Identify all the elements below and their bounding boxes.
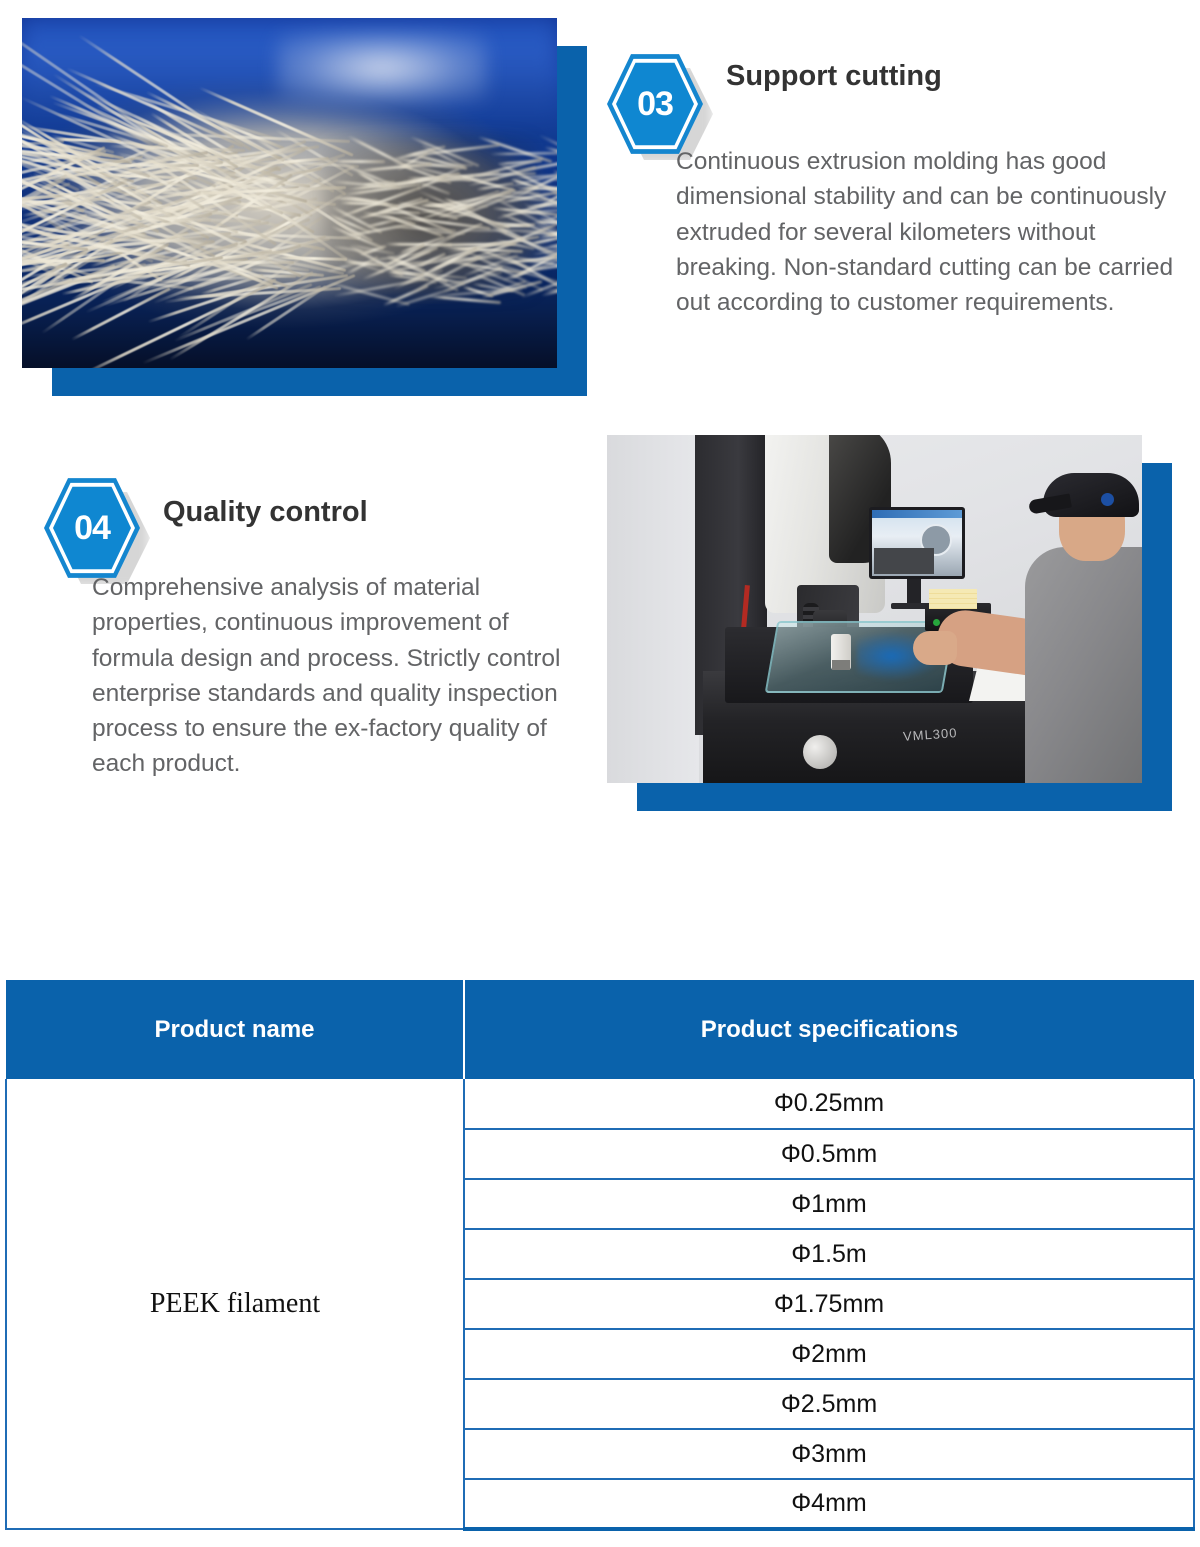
quality-inspection-photo: VML300: [607, 435, 1142, 783]
cell-product-specification: Φ1.75mm: [464, 1279, 1194, 1329]
column-header-product-specifications: Product specifications: [464, 980, 1194, 1079]
cap-logo-icon: [1101, 493, 1114, 506]
table-body: PEEK filamentΦ0.25mmΦ0.5mmΦ1mmΦ1.5mΦ1.75…: [6, 1079, 1194, 1529]
cell-product-specification: Φ3mm: [464, 1429, 1194, 1479]
lab-monitor: [869, 507, 965, 579]
green-led-icon: [933, 619, 940, 626]
operator-torso: [1025, 547, 1142, 783]
stage-roller: [803, 735, 837, 769]
operator-hand: [913, 631, 957, 665]
step-badge-03: 03: [607, 52, 703, 156]
quality-inspection-image: VML300: [607, 435, 1142, 783]
peek-rods-photo: [22, 18, 557, 368]
step-badge-04: 04: [44, 476, 140, 580]
screen-grid-panel: [874, 548, 934, 574]
cell-product-specification: Φ0.5mm: [464, 1129, 1194, 1179]
table-row: PEEK filamentΦ0.25mm: [6, 1079, 1194, 1129]
cell-product-specification: Φ2mm: [464, 1329, 1194, 1379]
cell-product-specification: Φ2.5mm: [464, 1379, 1194, 1429]
lab-wall: [607, 435, 699, 783]
monitor-screen: [872, 510, 962, 576]
rod-strands: [22, 18, 557, 368]
infographic-page: 03 Support cutting Continuous extrusion …: [0, 0, 1200, 1547]
cell-product-specification: Φ4mm: [464, 1479, 1194, 1529]
section-divider-banner: PEEK Filament & Capillary specification …: [0, 838, 1200, 944]
cell-product-name: PEEK filament: [6, 1079, 464, 1529]
cell-product-specification: Φ0.25mm: [464, 1079, 1194, 1129]
sample-container: [831, 634, 851, 670]
step-number: 04: [74, 511, 110, 545]
section-title-support-cutting: Support cutting: [726, 60, 942, 93]
step-number: 03: [637, 87, 673, 121]
section-body-support-cutting: Continuous extrusion molding has good di…: [676, 144, 1176, 320]
software-toolbar: [872, 510, 962, 518]
note-pad: [929, 589, 977, 609]
monitor-stand: [907, 579, 921, 605]
table-header-row: Product name Product specifications: [6, 980, 1194, 1079]
section-title-quality-control: Quality control: [163, 496, 368, 529]
specification-table: Product name Product specifications PEEK…: [5, 980, 1195, 1531]
section-body-quality-control: Comprehensive analysis of material prope…: [92, 570, 580, 782]
column-header-product-name: Product name: [6, 980, 464, 1079]
peek-rods-image: [22, 18, 557, 368]
operator-cap: [1043, 473, 1139, 517]
cell-product-specification: Φ1.5m: [464, 1229, 1194, 1279]
cell-product-specification: Φ1mm: [464, 1179, 1194, 1229]
